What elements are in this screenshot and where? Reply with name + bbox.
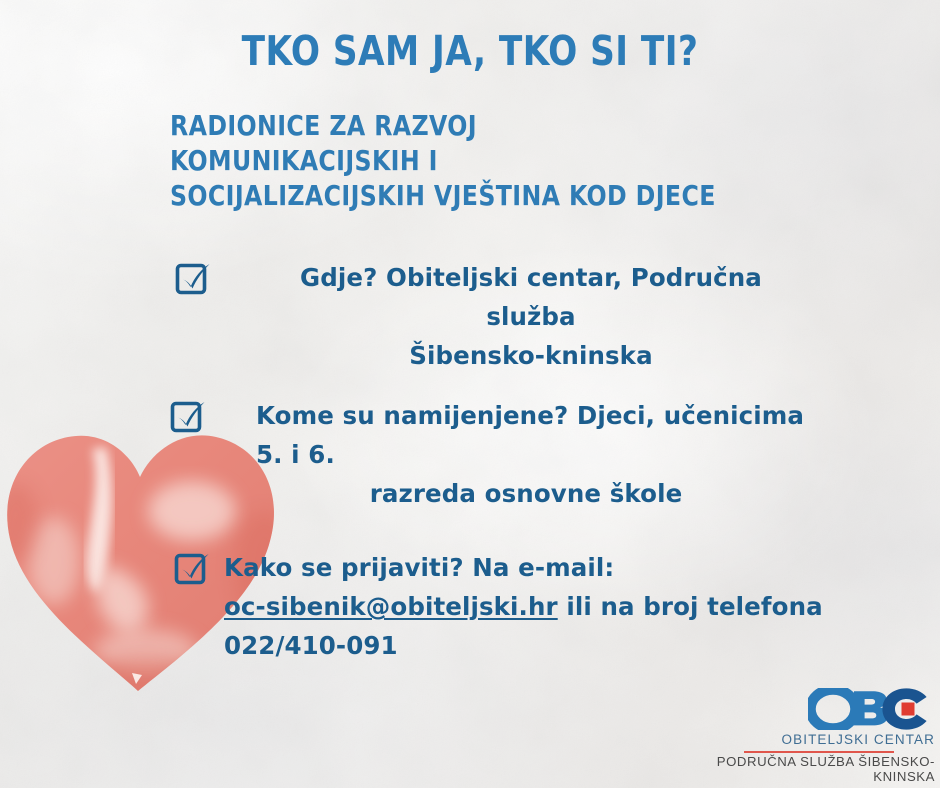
bullet-registration-line-1: Kako se prijaviti? Na e-mail: [224,553,614,582]
obc-logo-mark-icon [808,688,930,730]
logo-branch-name: PODRUČNA SLUŽBA ŠIBENSKO-KNINSKA [703,754,935,784]
poster-subtitle-line-2: SOCIJALIZACIJSKIH VJEŠTINA KOD DJECE [170,178,734,213]
logo-organization-name: OBITELJSKI CENTAR [703,732,935,747]
bullet-registration-line-2-suffix: ili na broj telefona [558,592,823,621]
logo-divider [744,751,894,753]
checkbox-checked-icon [173,258,213,298]
poster-title: TKO SAM JA, TKO SI TI? [33,27,907,75]
organization-logo: OBITELJSKI CENTAR PODRUČNA SLUŽBA ŠIBENS… [703,688,935,780]
bullet-location-line-1: Gdje? Obiteljski centar, Područna služba [300,263,762,331]
poster-canvas: TKO SAM JA, TKO SI TI? RADIONICE ZA RAZV… [0,0,940,788]
poster-subtitle: RADIONICE ZA RAZVOJ KOMUNIKACIJSKIH I SO… [170,108,734,213]
bullet-registration-phone: 022/410-091 [224,631,398,660]
bullet-item-registration: Kako se prijaviti? Na e-mail: oc-sibenik… [172,548,892,665]
bullet-audience-line-1: Kome su namijenjene? Djeci, učenicima 5.… [256,396,836,474]
checkbox-checked-icon [168,396,208,436]
checkbox-checked-icon [172,548,212,588]
bullet-registration-text: Kako se prijaviti? Na e-mail: oc-sibenik… [224,548,894,665]
bullet-audience-line-2: razreda osnovne škole [256,474,836,513]
bullet-location-line-2: Šibensko-kninska [409,341,652,370]
poster-subtitle-line-1: RADIONICE ZA RAZVOJ KOMUNIKACIJSKIH I [170,108,734,178]
bullet-item-audience: Kome su namijenjene? Djeci, učenicima 5.… [168,396,868,513]
bullet-item-location: Gdje? Obiteljski centar, Područna služba… [173,258,853,375]
bullet-location-text: Gdje? Obiteljski centar, Područna služba… [261,258,801,375]
registration-email-link[interactable]: oc-sibenik@obiteljski.hr [224,592,558,621]
bullet-audience-text: Kome su namijenjene? Djeci, učenicima 5.… [256,396,836,513]
